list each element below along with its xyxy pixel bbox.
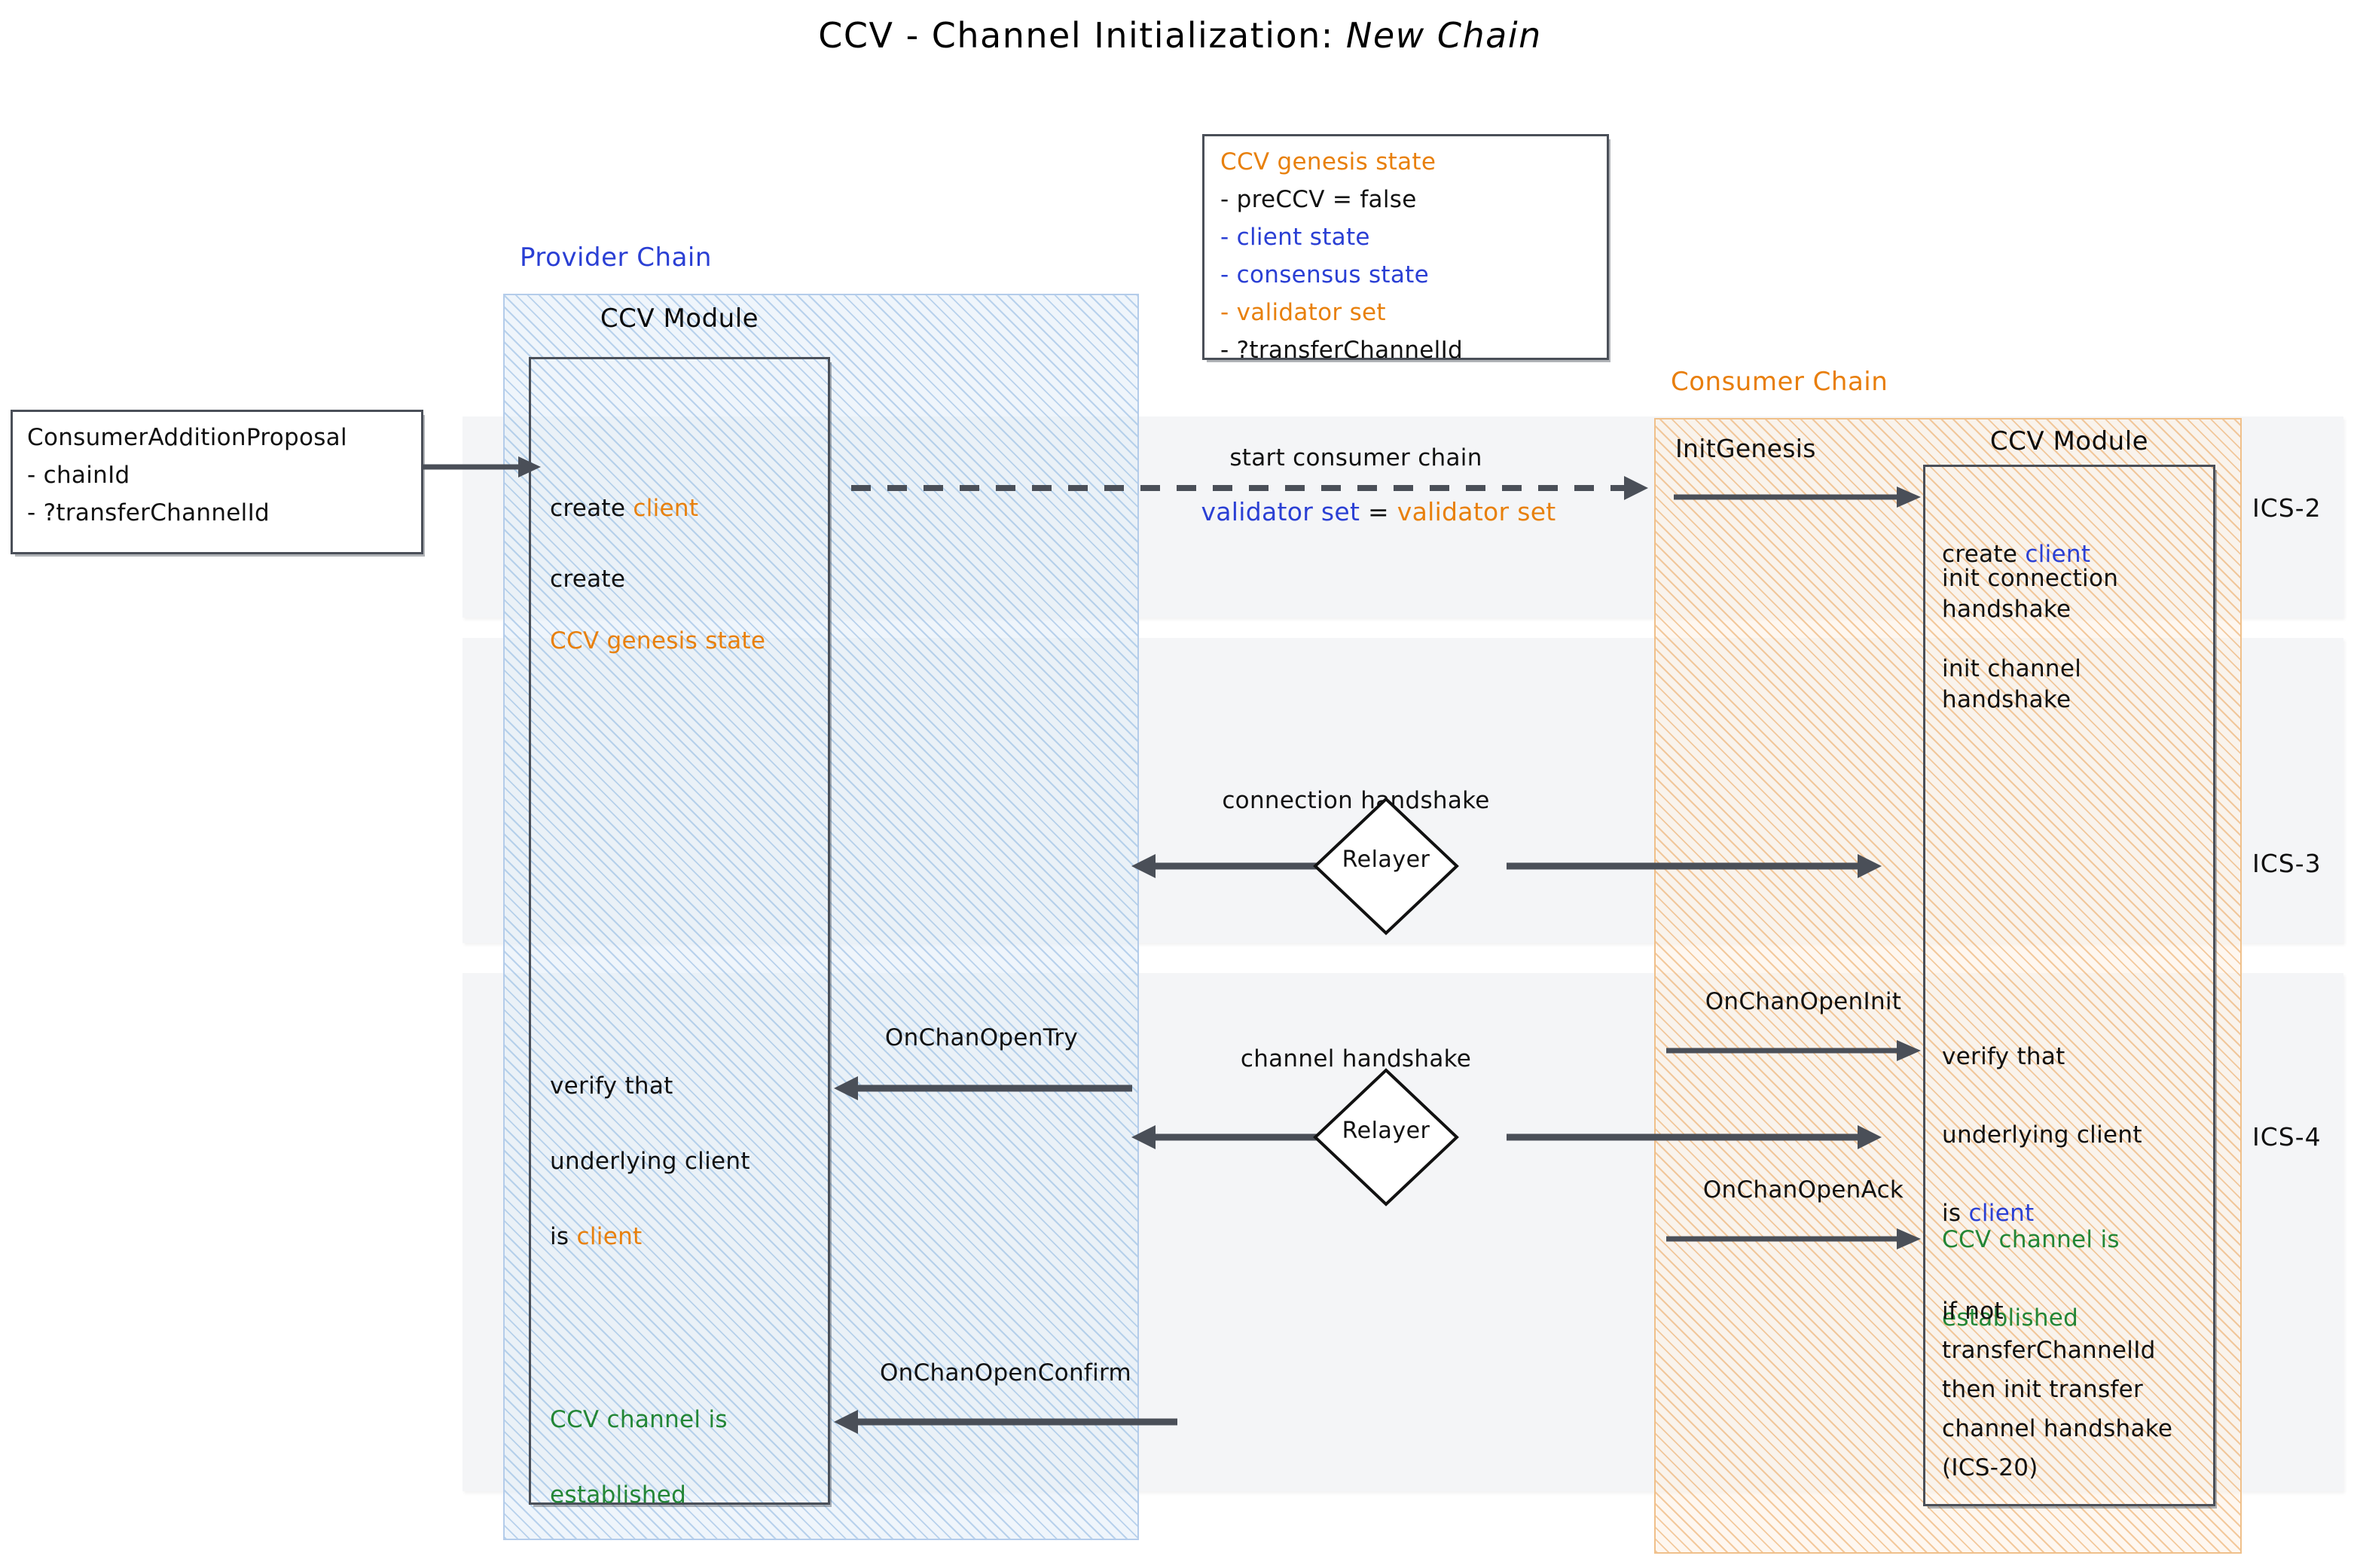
genesis-field-validator-set: - validator set xyxy=(1220,299,1386,326)
genesis-name: CCV genesis state xyxy=(1220,148,1436,175)
page-title: CCV - Channel Initialization: New Chain xyxy=(0,15,2360,56)
label-on-chan-open-try: OnChanOpenTry xyxy=(838,1024,1125,1051)
arrow-on-chan-open-ack xyxy=(1666,1224,1922,1254)
ics-label-2: ICS-2 xyxy=(2252,493,2322,523)
arrow-on-chan-open-try xyxy=(832,1073,1134,1103)
genesis-field-transfer-channel-id: - ?transferChannelId xyxy=(1220,337,1463,364)
provider-ccv-module-box xyxy=(529,357,830,1505)
ccv-genesis-state-token: CCV genesis state xyxy=(550,627,765,654)
provider-ccv-module-label: CCV Module xyxy=(529,304,830,334)
consumer-chain-label: Consumer Chain xyxy=(1671,367,1888,397)
provider-step-channel-established: CCV channel is established xyxy=(550,1363,728,1514)
provider-verify-line1: verify that xyxy=(550,1072,673,1100)
label-on-chan-open-init: OnChanOpenInit xyxy=(1668,988,1939,1015)
provider-create-client-prefix: create xyxy=(550,495,633,522)
proposal-name: ConsumerAdditionProposal xyxy=(27,424,347,451)
provider-established-line2: established xyxy=(550,1481,686,1509)
relayer-label-connection: Relayer xyxy=(1311,847,1461,873)
validator-set-provider: validator set xyxy=(1201,497,1360,526)
init-genesis-label: InitGenesis xyxy=(1675,433,1816,464)
provider-step-create-genesis: create CCV genesis state xyxy=(550,533,765,657)
validator-set-consumer: validator set xyxy=(1397,497,1556,526)
genesis-field-consensus-state: - consensus state xyxy=(1220,261,1429,288)
consumer-step-create-client: create client xyxy=(1942,508,2090,570)
arrow-on-chan-open-confirm xyxy=(832,1407,1179,1437)
ics-label-4: ICS-4 xyxy=(2252,1122,2322,1152)
provider-verify-line2: underlying client xyxy=(550,1148,750,1175)
consumer-addition-proposal-text: ConsumerAdditionProposal - chainId - ?tr… xyxy=(27,419,347,532)
consumer-established-line1: CCV channel is xyxy=(1942,1226,2120,1253)
ccv-genesis-state-text: CCV genesis state - preCCV = false - cli… xyxy=(1220,143,1463,369)
provider-step-verify-client: verify that underlying client is client xyxy=(550,1030,750,1255)
page-title-emphasis: New Chain xyxy=(1346,15,1542,56)
genesis-field-preccv: - preCCV = false xyxy=(1220,186,1417,213)
label-on-chan-open-confirm: OnChanOpenConfirm xyxy=(832,1359,1179,1386)
proposal-field-chain-id: - chainId xyxy=(27,462,130,489)
provider-create-genesis-line1: create xyxy=(550,566,625,593)
client-token: client xyxy=(633,495,698,522)
consumer-step-transfer-note: if not transferChannelId then init trans… xyxy=(1942,1292,2172,1487)
provider-chain-label: Provider Chain xyxy=(520,243,712,273)
arrow-on-chan-open-init xyxy=(1666,1036,1922,1066)
client-token: client xyxy=(577,1223,643,1250)
genesis-field-client-state: - client state xyxy=(1220,224,1370,251)
arrow-proposal-to-provider xyxy=(422,452,542,482)
consumer-step-init-connection: init connection handshake xyxy=(1942,563,2118,625)
label-on-chan-open-ack: OnChanOpenAck xyxy=(1668,1176,1939,1203)
page-title-main: CCV - Channel Initialization: xyxy=(818,15,1334,56)
consumer-verify-line2: underlying client xyxy=(1942,1121,2142,1149)
consumer-verify-line1: verify that xyxy=(1942,1043,2065,1070)
provider-step-create-client: create client xyxy=(550,462,698,524)
consumer-ccv-module-label: CCV Module xyxy=(1923,426,2215,456)
consumer-step-init-channel: init channel handshake xyxy=(1942,654,2081,715)
diagram-canvas: CCV - Channel Initialization: New Chain … xyxy=(0,0,2360,1568)
arrow-channel-handshake-right xyxy=(1431,1122,1883,1152)
proposal-field-transfer-channel-id: - ?transferChannelId xyxy=(27,499,270,526)
equals-sign: = xyxy=(1368,497,1389,526)
label-validator-set-equality: validator set = validator set xyxy=(1145,497,1612,526)
provider-verify-line3-prefix: is xyxy=(550,1223,577,1250)
label-start-consumer-chain: start consumer chain xyxy=(1145,444,1567,471)
ics-label-3: ICS-3 xyxy=(2252,849,2322,878)
arrow-init-genesis xyxy=(1674,482,1922,512)
relayer-label-channel: Relayer xyxy=(1311,1118,1461,1144)
arrow-connection-handshake-right xyxy=(1431,851,1883,881)
provider-established-line1: CCV channel is xyxy=(550,1406,728,1433)
